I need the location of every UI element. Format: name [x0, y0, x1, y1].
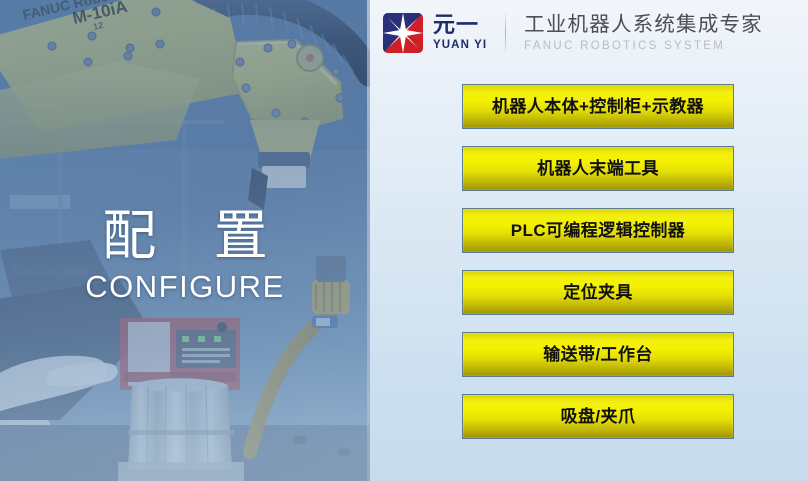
brand-name-en: YUAN YI: [433, 40, 487, 52]
brand-wordmark: 元一 YUAN YI: [433, 14, 487, 52]
header-title-en: FANUC ROBOTICS SYSTEM: [524, 40, 763, 53]
option-robot-body-controller-teachpendant[interactable]: 机器人本体+控制柜+示教器: [462, 84, 734, 129]
brand-header: 元一 YUAN YI 工业机器人系统集成专家 FANUC ROBOTICS SY…: [370, 0, 808, 66]
header-tagline: 工业机器人系统集成专家 FANUC ROBOTICS SYSTEM: [524, 13, 763, 53]
header-divider: [505, 13, 506, 53]
brand-name-cn: 元一: [433, 14, 487, 36]
page-root: FANUC Robot M-10iA 12: [0, 0, 808, 481]
option-conveyor-worktable[interactable]: 输送带/工作台: [462, 332, 734, 377]
option-suction-gripper[interactable]: 吸盘/夹爪: [462, 394, 734, 439]
option-positioning-fixture[interactable]: 定位夹具: [462, 270, 734, 315]
yuanyi-starburst-logo-icon: [382, 12, 424, 54]
hero-caption-cn: 配 置: [0, 208, 370, 265]
option-end-effector-tool[interactable]: 机器人末端工具: [462, 146, 734, 191]
hero-caption: 配 置 CONFIGURE: [0, 208, 370, 305]
option-plc-controller[interactable]: PLC可编程逻辑控制器: [462, 208, 734, 253]
hero-right-edge: [367, 0, 370, 481]
options-panel: 元一 YUAN YI 工业机器人系统集成专家 FANUC ROBOTICS SY…: [370, 0, 808, 481]
option-button-list: 机器人本体+控制柜+示教器 机器人末端工具 PLC可编程逻辑控制器 定位夹具 输…: [462, 84, 734, 439]
header-title-cn: 工业机器人系统集成专家: [524, 13, 763, 37]
configure-hero: FANUC Robot M-10iA 12: [0, 0, 370, 481]
hero-caption-en: CONFIGURE: [0, 269, 370, 305]
